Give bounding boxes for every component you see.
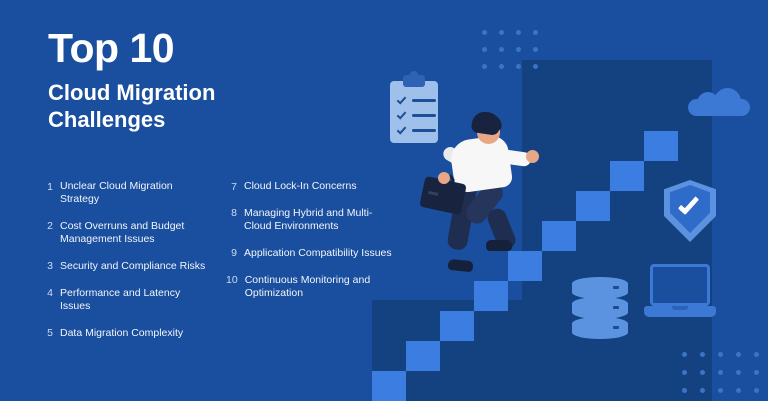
title-block: Top 10 Cloud Migration Challenges xyxy=(48,28,215,133)
dot xyxy=(499,47,504,52)
database-tier xyxy=(572,277,628,299)
dot xyxy=(482,30,487,35)
stair-step xyxy=(406,341,440,371)
briefcase-latch xyxy=(428,191,438,196)
list-item-label: Performance and Latency Issues xyxy=(60,287,212,314)
stair-step xyxy=(610,161,644,191)
list-item-number: 7 xyxy=(226,180,244,194)
page-title: Top 10 xyxy=(48,28,215,70)
list-item-label: Unclear Cloud Migration Strategy xyxy=(60,180,212,207)
list-item-label: Managing Hybrid and Multi-Cloud Environm… xyxy=(244,207,394,234)
dot xyxy=(499,64,504,69)
dot xyxy=(736,352,741,357)
dot xyxy=(700,352,705,357)
laptop-trackpad xyxy=(672,306,688,310)
person-back-shoe xyxy=(447,259,473,273)
laptop-icon xyxy=(644,264,716,320)
challenges-column-left: 1Unclear Cloud Migration Strategy2Cost O… xyxy=(44,180,212,354)
dot xyxy=(533,64,538,69)
dot xyxy=(754,370,759,375)
subtitle-line-1: Cloud Migration xyxy=(48,79,215,106)
database-tier xyxy=(572,317,628,339)
list-item-label: Application Compatibility Issues xyxy=(244,247,392,261)
list-item-number: 8 xyxy=(226,207,244,234)
stair-step xyxy=(440,311,474,341)
dot xyxy=(516,47,521,52)
dot xyxy=(736,388,741,393)
list-item[interactable]: 1Unclear Cloud Migration Strategy xyxy=(44,180,212,207)
dot xyxy=(533,47,538,52)
challenges-lists: 1Unclear Cloud Migration Strategy2Cost O… xyxy=(44,180,394,354)
list-item-number: 10 xyxy=(226,274,245,301)
list-item[interactable]: 3Security and Compliance Risks xyxy=(44,260,212,274)
dot xyxy=(482,64,487,69)
cloud-icon xyxy=(688,88,750,116)
database-indicator xyxy=(613,306,619,309)
stair-step xyxy=(644,131,678,161)
list-item-label: Security and Compliance Risks xyxy=(60,260,205,274)
list-item-number: 4 xyxy=(44,287,60,314)
person-back-hand xyxy=(438,172,450,184)
challenges-column-right: 7Cloud Lock-In Concerns8Managing Hybrid … xyxy=(226,180,394,354)
dot xyxy=(482,47,487,52)
dot xyxy=(682,388,687,393)
database-indicator xyxy=(613,286,619,289)
list-item-label: Data Migration Complexity xyxy=(60,327,183,341)
dot xyxy=(754,388,759,393)
clipboard-line xyxy=(412,99,436,102)
page-subtitle: Cloud Migration Challenges xyxy=(48,79,215,134)
list-item-number: 5 xyxy=(44,327,60,341)
database-tier xyxy=(572,297,628,319)
list-item-number: 3 xyxy=(44,260,60,274)
text-pane: Top 10 Cloud Migration Challenges 1Uncle… xyxy=(0,0,400,401)
person-hair-top xyxy=(473,113,502,131)
list-item[interactable]: 8Managing Hybrid and Multi-Cloud Environ… xyxy=(226,207,394,234)
shield-check-icon xyxy=(664,180,716,242)
infographic-poster: Top 10 Cloud Migration Challenges 1Uncle… xyxy=(0,0,768,401)
dot xyxy=(516,30,521,35)
list-item[interactable]: 2Cost Overruns and Budget Management Iss… xyxy=(44,220,212,247)
cloud-base xyxy=(688,99,750,116)
dot xyxy=(718,370,723,375)
dot xyxy=(736,370,741,375)
list-item-label: Cost Overruns and Budget Management Issu… xyxy=(60,220,212,247)
dot xyxy=(700,388,705,393)
person-front-hand xyxy=(526,150,539,163)
dot xyxy=(718,352,723,357)
list-item-number: 2 xyxy=(44,220,60,247)
illustration-pane xyxy=(372,0,768,401)
dot xyxy=(682,370,687,375)
dot xyxy=(682,352,687,357)
list-item-number: 1 xyxy=(44,180,60,207)
subtitle-line-2: Challenges xyxy=(48,106,215,133)
dot xyxy=(499,30,504,35)
dot xyxy=(754,352,759,357)
person-front-shoe xyxy=(486,240,512,251)
list-item-label: Cloud Lock-In Concerns xyxy=(244,180,357,194)
laptop-screen xyxy=(650,264,710,306)
list-item[interactable]: 9Application Compatibility Issues xyxy=(226,247,394,261)
list-item-number: 9 xyxy=(226,247,244,261)
list-item-label: Continuous Monitoring and Optimization xyxy=(245,274,394,301)
businessman-climbing-icon xyxy=(430,112,560,302)
dot xyxy=(700,370,705,375)
dot xyxy=(533,30,538,35)
clipboard-clip xyxy=(403,75,425,87)
database-stack-icon xyxy=(572,277,628,339)
database-indicator xyxy=(613,326,619,329)
list-item[interactable]: 5Data Migration Complexity xyxy=(44,327,212,341)
stair-step xyxy=(576,191,610,221)
list-item[interactable]: 4Performance and Latency Issues xyxy=(44,287,212,314)
dot xyxy=(516,64,521,69)
dot xyxy=(718,388,723,393)
list-item[interactable]: 10Continuous Monitoring and Optimization xyxy=(226,274,394,301)
list-item[interactable]: 7Cloud Lock-In Concerns xyxy=(226,180,394,194)
